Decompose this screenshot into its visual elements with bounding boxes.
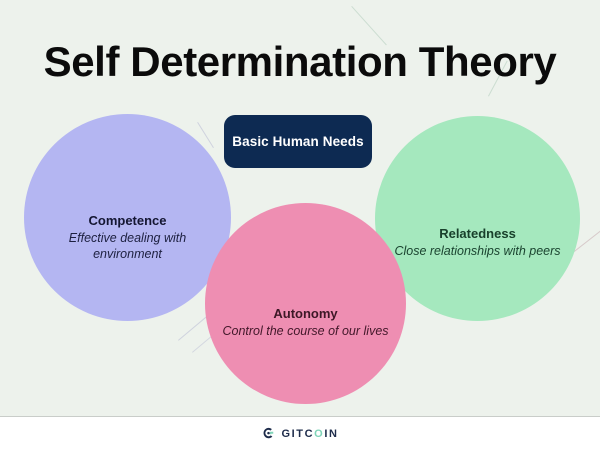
need-description: Control the course of our lives: [207, 323, 405, 339]
gitcoin-wordmark: GITCOIN: [281, 428, 338, 440]
need-circle-competence[interactable]: Competence Effective dealing with enviro…: [24, 114, 231, 321]
need-title: Autonomy: [207, 306, 405, 322]
need-circle-relatedness[interactable]: Relatedness Close relationships with pee…: [375, 116, 580, 321]
gitcoin-logo-icon: [261, 426, 276, 441]
need-description: Close relationships with peers: [378, 243, 578, 259]
footer-bar: GITCOIN: [0, 417, 600, 450]
need-description: Effective dealing with environment: [40, 230, 215, 263]
need-title: Competence: [40, 213, 215, 229]
basic-human-needs-badge[interactable]: Basic Human Needs: [224, 115, 372, 168]
wordmark-accent-o: O: [314, 428, 324, 440]
slide-canvas: Self Determination Theory Competence Eff…: [0, 0, 600, 416]
need-circle-autonomy[interactable]: Autonomy Control the course of our lives: [205, 203, 406, 404]
page-title: Self Determination Theory: [0, 38, 600, 86]
need-text-wrap: Relatedness Close relationships with pee…: [378, 226, 578, 260]
need-title: Relatedness: [378, 226, 578, 242]
wordmark-prefix: GITC: [281, 428, 314, 440]
need-text-wrap: Competence Effective dealing with enviro…: [40, 213, 215, 263]
badge-label: Basic Human Needs: [232, 134, 364, 149]
need-text-wrap: Autonomy Control the course of our lives: [207, 306, 405, 340]
wordmark-suffix: IN: [324, 428, 338, 440]
